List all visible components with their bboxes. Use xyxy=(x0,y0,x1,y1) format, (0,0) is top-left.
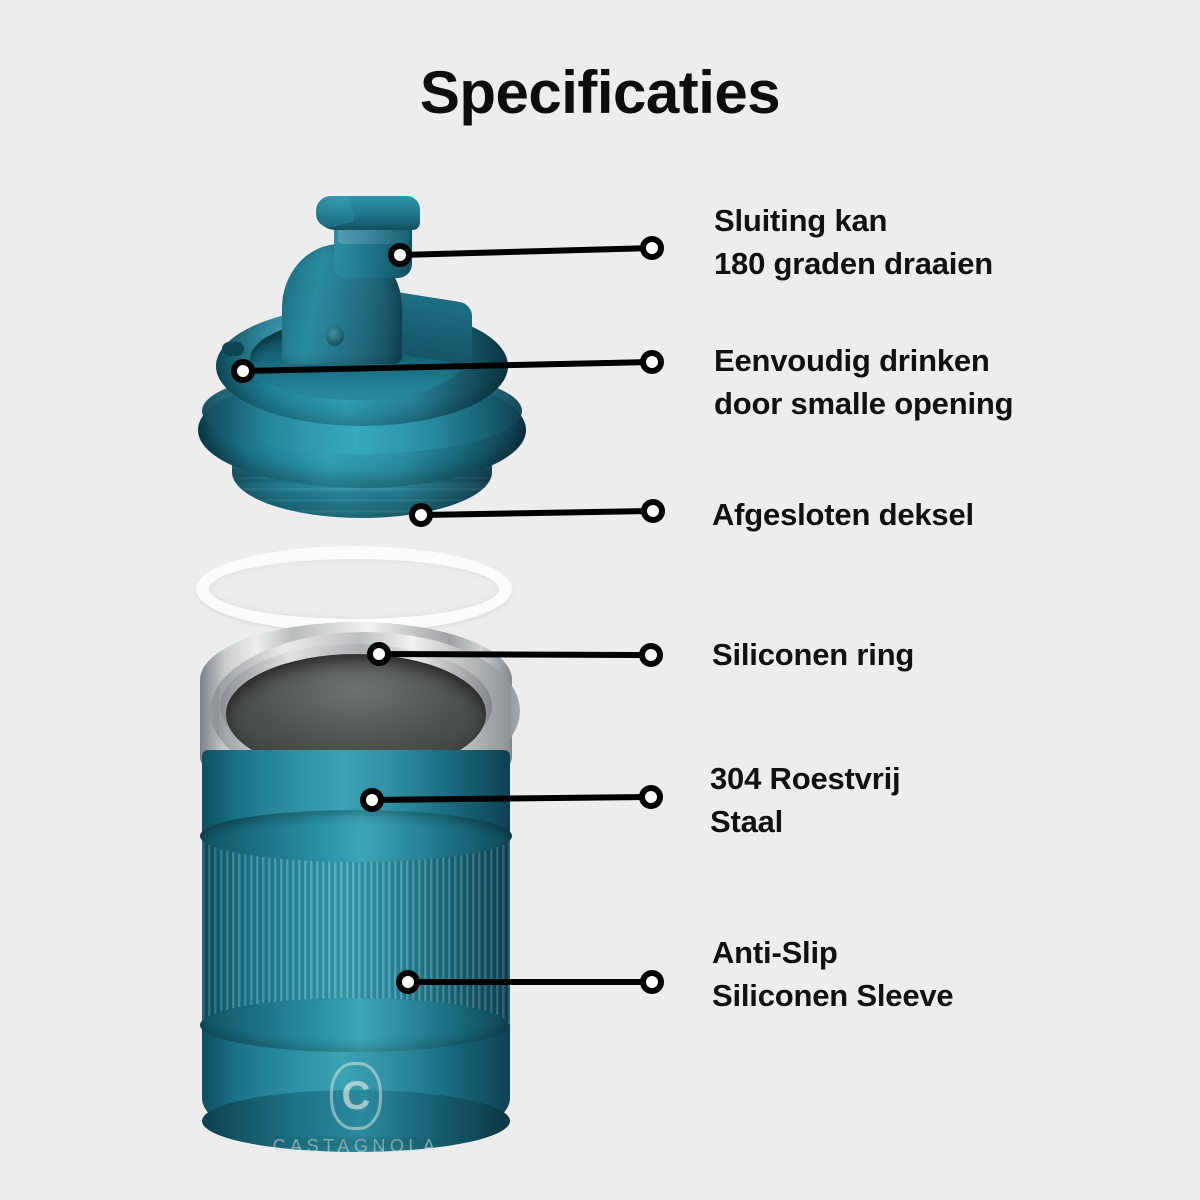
callout-label-anti-slip-sleeve: Anti-Slip Siliconen Sleeve xyxy=(712,932,953,1018)
lid-left-tab xyxy=(222,342,244,356)
sleeve-bottom-edge xyxy=(200,998,508,1052)
anti-slip-silicone-sleeve xyxy=(202,836,510,1024)
callout-label-sealed-lid: Afgesloten deksel xyxy=(712,494,974,537)
lid-hinge-pin xyxy=(326,326,344,346)
callout-label-stainless-steel: 304 Roestvrij Staal xyxy=(710,758,900,844)
brand-mark-icon xyxy=(330,1062,382,1130)
callout-label-easy-drinking: Eenvoudig drinken door smalle opening xyxy=(714,340,1013,426)
lid-assembly xyxy=(186,186,536,536)
cup-ground-shadow xyxy=(205,1130,505,1156)
specifications-infographic: Specificaties xyxy=(0,0,1200,1200)
callout-label-closure-rotation: Sluiting kan 180 graden draaien xyxy=(714,200,993,286)
cup-body: CASTAGNOLA xyxy=(196,600,516,1180)
product-illustration: CASTAGNOLA xyxy=(0,0,1200,1200)
callout-label-silicone-ring: Siliconen ring xyxy=(712,634,914,677)
